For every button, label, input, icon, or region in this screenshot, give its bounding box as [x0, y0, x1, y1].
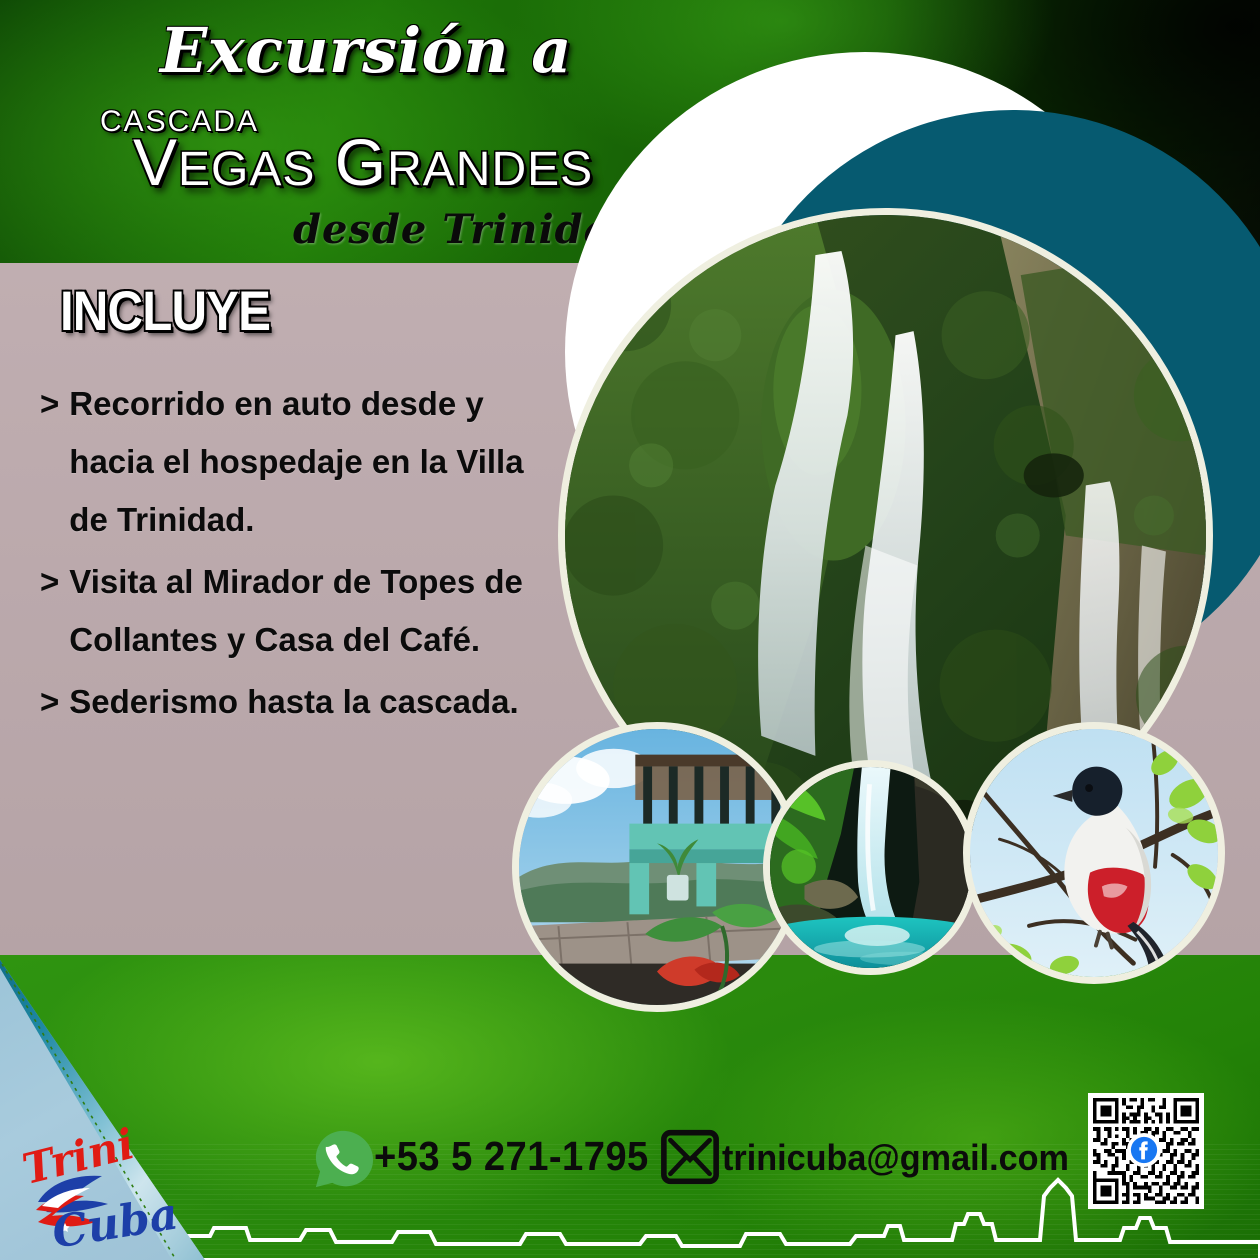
- thumb-photo-bird: [963, 722, 1225, 984]
- phone-number[interactable]: +53 5 271-1795: [374, 1133, 649, 1180]
- includes-heading: INCLUYE: [60, 278, 270, 343]
- list-item-text: Visita al Mirador de Topes de Collantes …: [69, 553, 570, 669]
- tocororo-illustration: [970, 729, 1218, 977]
- thumb-photo-pool: [763, 760, 978, 975]
- poster-root: Excursión a CASCADA VEGAS GRANDES desde …: [0, 0, 1260, 1260]
- brand-logo[interactable]: Trini Cuba: [8, 1130, 198, 1255]
- list-item-text: Sederismo hasta la cascada.: [69, 673, 518, 731]
- page-title-line1: Excursión a: [160, 14, 572, 87]
- list-item-text: Recorrido en auto desde y hacia el hospe…: [69, 375, 570, 549]
- facebook-glyph: [1129, 1135, 1159, 1165]
- list-item: > Sederismo hasta la cascada.: [40, 673, 570, 731]
- bullet-marker-icon: >: [40, 673, 59, 731]
- page-title-main: VEGAS GRANDES: [133, 124, 593, 200]
- thumb-photo-mirador: [512, 722, 802, 1012]
- facebook-icon[interactable]: [1127, 1133, 1161, 1167]
- bullet-marker-icon: >: [40, 375, 59, 433]
- mirador-illustration: [519, 729, 795, 1005]
- list-item: > Visita al Mirador de Topes de Collante…: [40, 553, 570, 669]
- whatsapp-icon[interactable]: [312, 1128, 374, 1190]
- email-address[interactable]: trinicuba@gmail.com: [722, 1137, 1069, 1179]
- bullet-marker-icon: >: [40, 553, 59, 611]
- pool-illustration: [770, 767, 971, 968]
- list-item: > Recorrido en auto desde y hacia el hos…: [40, 375, 570, 549]
- envelope-icon[interactable]: [660, 1129, 720, 1185]
- includes-list: > Recorrido en auto desde y hacia el hos…: [40, 375, 570, 735]
